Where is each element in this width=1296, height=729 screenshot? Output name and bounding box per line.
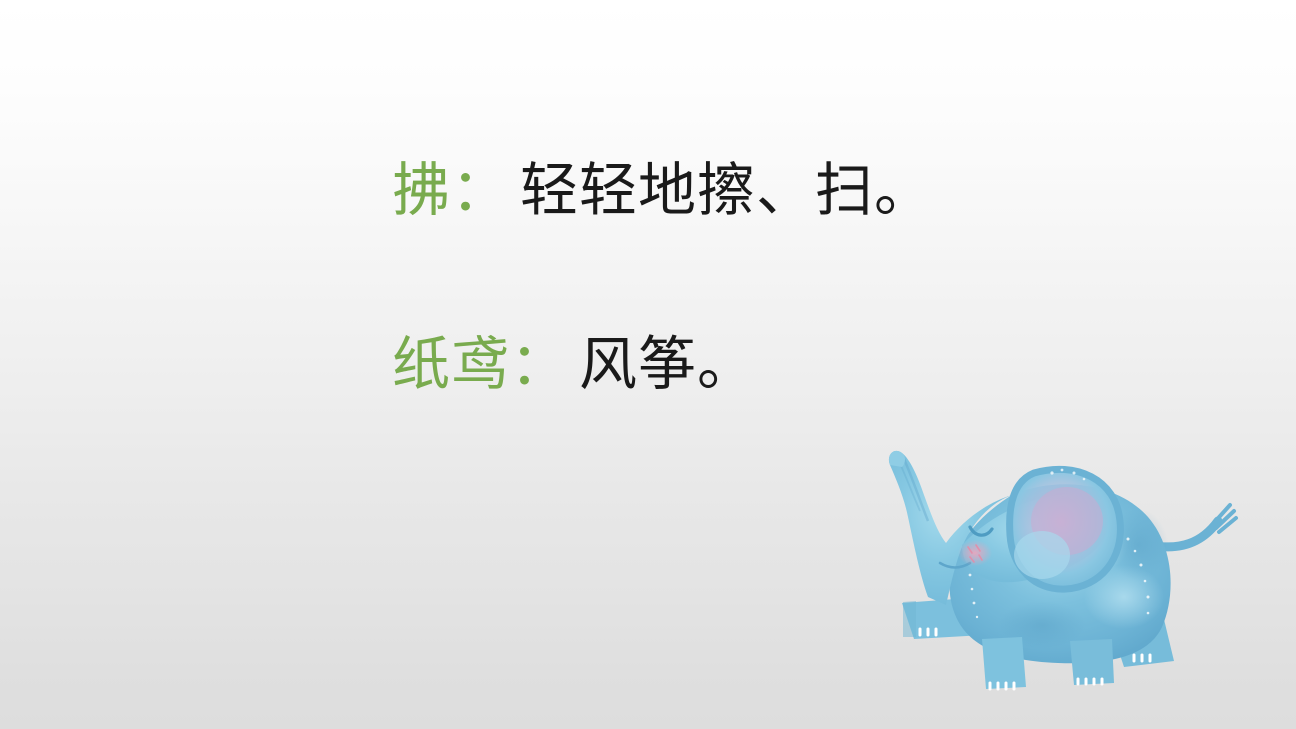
vocabulary-term-2: 纸鸢： <box>392 332 569 397</box>
vocabulary-text-block: 拂：轻轻地擦、扫。 纸鸢：风筝。 <box>392 152 1092 403</box>
vocabulary-definition-2: 风筝。 <box>579 332 756 397</box>
vocabulary-definition-1: 轻轻地擦、扫。 <box>520 158 933 223</box>
elephant-ear <box>1010 469 1121 590</box>
vocabulary-term-1: 拂： <box>392 158 510 223</box>
elephant-svg <box>862 425 1242 710</box>
vocabulary-line-2: 纸鸢：风筝。 <box>392 326 1092 404</box>
elephant-cheek-blush <box>958 540 992 566</box>
elephant-illustration <box>862 425 1242 710</box>
slide-canvas: 拂：轻轻地擦、扫。 纸鸢：风筝。 <box>0 0 1296 729</box>
vocabulary-line-1: 拂：轻轻地擦、扫。 <box>392 152 1092 230</box>
